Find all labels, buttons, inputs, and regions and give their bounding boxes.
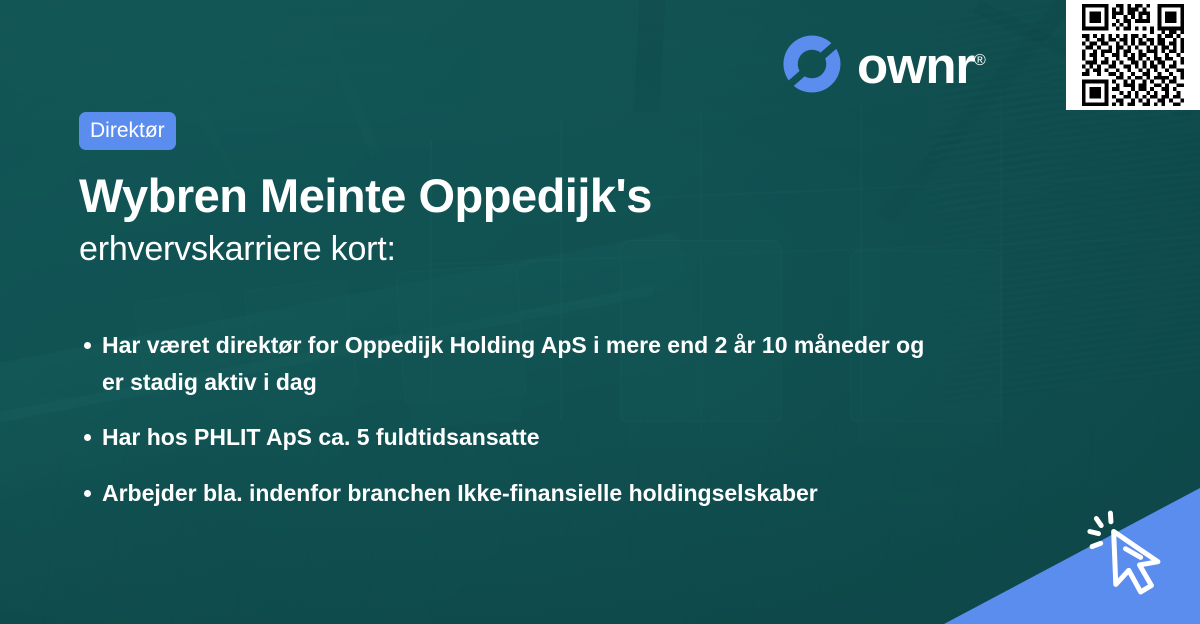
ownr-wordmark: ownr® <box>857 40 986 91</box>
page-title: Wybren Meinte Oppedijk's <box>79 170 979 223</box>
brand-name: ownr <box>857 37 974 94</box>
content-block: Direktør Wybren Meinte Oppedijk's erhver… <box>79 112 979 512</box>
registered-trademark-symbol: ® <box>974 52 986 69</box>
career-card: ownr® Direktør Wybren Meinte Oppedijk's … <box>0 0 1200 624</box>
list-item: Arbejder bla. indenfor branchen Ikke-fin… <box>79 475 932 512</box>
click-cursor-icon <box>1078 498 1186 606</box>
ownr-swoosh-circle-icon <box>781 33 843 95</box>
headline: Wybren Meinte Oppedijk's erhvervskarrier… <box>79 170 979 271</box>
qr-code-panel[interactable] <box>1066 0 1200 110</box>
page-subtitle: erhvervskarriere kort: <box>79 227 979 271</box>
qr-code-icon <box>1078 0 1188 110</box>
ownr-logo[interactable]: ownr® <box>781 33 986 95</box>
list-item: Har været direktør for Oppedijk Holding … <box>79 327 932 402</box>
role-badge: Direktør <box>79 112 176 150</box>
list-item: Har hos PHLIT ApS ca. 5 fuldtidsansatte <box>79 419 932 456</box>
career-facts-list: Har været direktør for Oppedijk Holding … <box>79 327 979 512</box>
